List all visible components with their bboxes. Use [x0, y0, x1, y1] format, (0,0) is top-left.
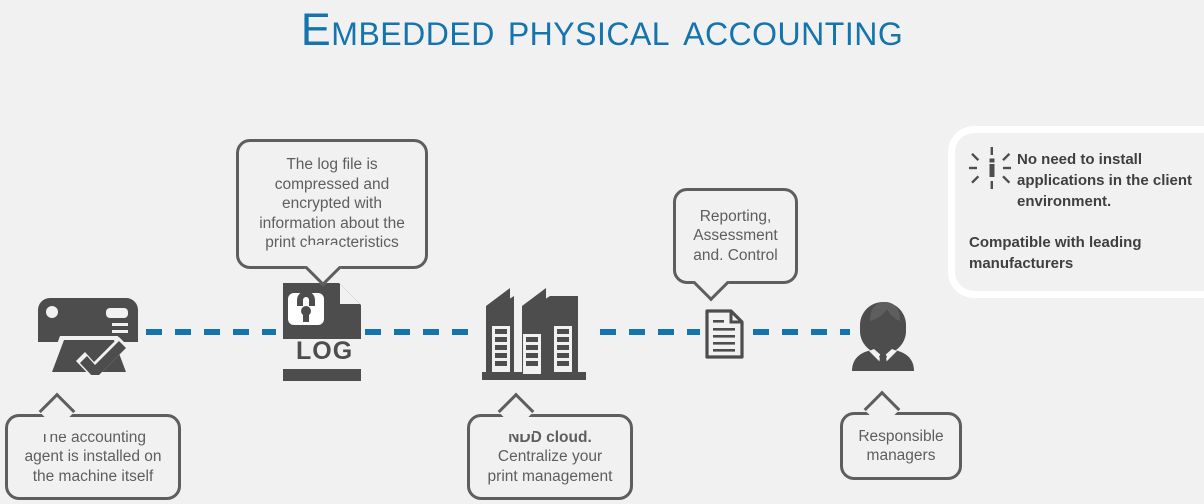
bubble-reporting-line2: Assessment [693, 227, 777, 244]
info-panel-paragraph-2: Compatible with leading manufacturers [969, 232, 1196, 274]
bubble-ndd-cloud-tail [503, 398, 529, 424]
printer-check-icon [30, 290, 150, 375]
bubble-accounting-agent: The accounting agent is installed on the… [5, 414, 181, 500]
bubble-responsible-managers-tail [869, 396, 895, 422]
connector-log-to-cloud [365, 329, 480, 335]
bubble-ndd-cloud-line2: Centralize your [498, 448, 602, 465]
bubble-reporting: Reporting, Assessment and, Control [673, 188, 798, 284]
report-document-icon [705, 309, 745, 359]
diagram-canvas: Embedded physical accounting L [0, 0, 1204, 504]
factory-icon [478, 280, 602, 385]
bubble-reporting-line1: Reporting, [700, 208, 772, 225]
connector-report-to-manager [753, 329, 850, 335]
bubble-accounting-agent-line3: the machine itself [33, 468, 154, 485]
bubble-log-file-line4: information about the [259, 215, 405, 232]
bubble-ndd-cloud: NDD cloud. Centralize your print managem… [467, 414, 633, 500]
bubble-log-file-line1: The log file is [286, 156, 377, 173]
bubble-log-file-line3: encrypted with [282, 195, 382, 212]
info-shine-icon [969, 147, 1015, 193]
log-label: LOG [296, 337, 353, 366]
bubble-responsible-managers-line2: managers [867, 447, 936, 464]
connector-printer-to-log [146, 329, 276, 335]
businessman-avatar-icon [846, 299, 920, 371]
bubble-log-file-tail [310, 255, 336, 281]
bubble-reporting-tail [698, 270, 724, 296]
bubble-responsible-managers: Responsible managers [840, 412, 962, 480]
connector-cloud-to-report [600, 329, 700, 335]
page-title: Embedded physical accounting [0, 4, 1204, 56]
bubble-log-file-line2: compressed and [275, 176, 390, 193]
bubble-accounting-agent-line2: agent is installed on [24, 448, 161, 465]
info-panel: No need to install applications in the c… [948, 126, 1204, 298]
bubble-ndd-cloud-line3: print management [488, 468, 613, 485]
locked-document-icon [283, 283, 365, 381]
bubble-accounting-agent-tail [44, 398, 70, 424]
